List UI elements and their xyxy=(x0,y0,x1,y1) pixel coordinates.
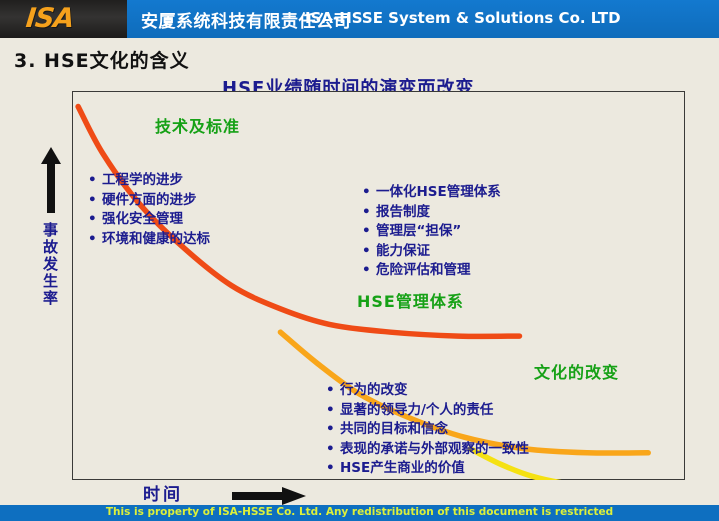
header-title-english: ISA-HSSE System & Solutions Co. LTD xyxy=(305,9,621,27)
slide-header: ISA 安厦系统科技有限责任公司 ISA-HSSE System & Solut… xyxy=(0,0,719,38)
annotation-item: •硬件方面的进步 xyxy=(88,191,210,211)
annotation-item-label: 管理层“担保” xyxy=(376,223,461,239)
slide-footer: This is property of ISA-HSSE Co. Ltd. An… xyxy=(0,505,719,521)
annotation-item-label: 危险评估和管理 xyxy=(376,262,471,278)
footer-text: This is property of ISA-HSSE Co. Ltd. An… xyxy=(0,506,719,518)
annotation-item-label: 强化安全管理 xyxy=(102,211,183,227)
x-axis-label: 时间 xyxy=(143,480,183,505)
bullet-dot-icon: • xyxy=(326,401,340,421)
annotation-group-technology: •工程学的进步•硬件方面的进步•强化安全管理•环境和健康的达标 xyxy=(88,171,210,249)
annotation-item: •报告制度 xyxy=(362,203,501,223)
bullet-dot-icon: • xyxy=(88,210,102,230)
annotation-item: •显著的领导力/个人的责任 xyxy=(326,401,529,421)
slide-canvas: ISA 安厦系统科技有限责任公司 ISA-HSSE System & Solut… xyxy=(0,0,719,521)
annotation-group-culture-change: •行为的改变•显著的领导力/个人的责任•共同的目标和信念•表现的承诺与外部观察的… xyxy=(326,381,529,479)
phase-label-culture-change: 文化的改变 xyxy=(534,359,619,383)
annotation-item: •HSE产生商业的价值 xyxy=(326,459,529,479)
page-title: 3. HSE文化的含义 xyxy=(14,46,190,73)
bullet-dot-icon: • xyxy=(362,203,376,223)
annotation-group-management-system: •一体化HSE管理体系•报告制度•管理层“担保”•能力保证•危险评估和管理 xyxy=(362,183,501,281)
bullet-dot-icon: • xyxy=(326,381,340,401)
annotation-item-label: 报告制度 xyxy=(376,204,430,220)
annotation-item-label: 能力保证 xyxy=(376,243,430,259)
annotation-item-label: 一体化HSE管理体系 xyxy=(376,184,501,200)
annotation-item-label: HSE产生商业的价值 xyxy=(340,460,465,476)
annotation-item-label: 环境和健康的达标 xyxy=(102,231,210,247)
annotation-item-label: 表现的承诺与外部观察的一致性 xyxy=(340,441,529,457)
annotation-item-label: 工程学的进步 xyxy=(102,172,183,188)
annotation-item-label: 硬件方面的进步 xyxy=(102,192,197,208)
logo-text: ISA xyxy=(24,4,75,34)
company-logo: ISA xyxy=(0,0,127,38)
annotation-item: •工程学的进步 xyxy=(88,171,210,191)
annotation-item: •一体化HSE管理体系 xyxy=(362,183,501,203)
y-axis-label: 事故发生率 xyxy=(36,222,60,307)
annotation-item: •表现的承诺与外部观察的一致性 xyxy=(326,440,529,460)
annotation-item: •能力保证 xyxy=(362,242,501,262)
bullet-dot-icon: • xyxy=(362,222,376,242)
bullet-dot-icon: • xyxy=(362,242,376,262)
bullet-dot-icon: • xyxy=(362,261,376,281)
annotation-item: •管理层“担保” xyxy=(362,222,501,242)
annotation-item: •强化安全管理 xyxy=(88,210,210,230)
annotation-item: •环境和健康的达标 xyxy=(88,230,210,250)
phase-label-management-system: HSE管理体系 xyxy=(357,288,464,312)
y-axis-arrow-icon xyxy=(40,147,62,213)
bullet-dot-icon: • xyxy=(88,171,102,191)
bullet-dot-icon: • xyxy=(326,420,340,440)
bullet-dot-icon: • xyxy=(88,191,102,211)
annotation-item-label: 共同的目标和信念 xyxy=(340,421,448,437)
annotation-item: •共同的目标和信念 xyxy=(326,420,529,440)
bullet-dot-icon: • xyxy=(88,230,102,250)
bullet-dot-icon: • xyxy=(326,459,340,479)
header-title-bar: 安厦系统科技有限责任公司 ISA-HSSE System & Solutions… xyxy=(127,0,719,38)
annotation-item-label: 显著的领导力/个人的责任 xyxy=(340,402,493,418)
x-axis-arrow-icon xyxy=(232,487,306,505)
annotation-item: •危险评估和管理 xyxy=(362,261,501,281)
annotation-item-label: 行为的改变 xyxy=(340,382,408,398)
phase-label-technology: 技术及标准 xyxy=(155,113,240,137)
annotation-item: •行为的改变 xyxy=(326,381,529,401)
bullet-dot-icon: • xyxy=(326,440,340,460)
bullet-dot-icon: • xyxy=(362,183,376,203)
